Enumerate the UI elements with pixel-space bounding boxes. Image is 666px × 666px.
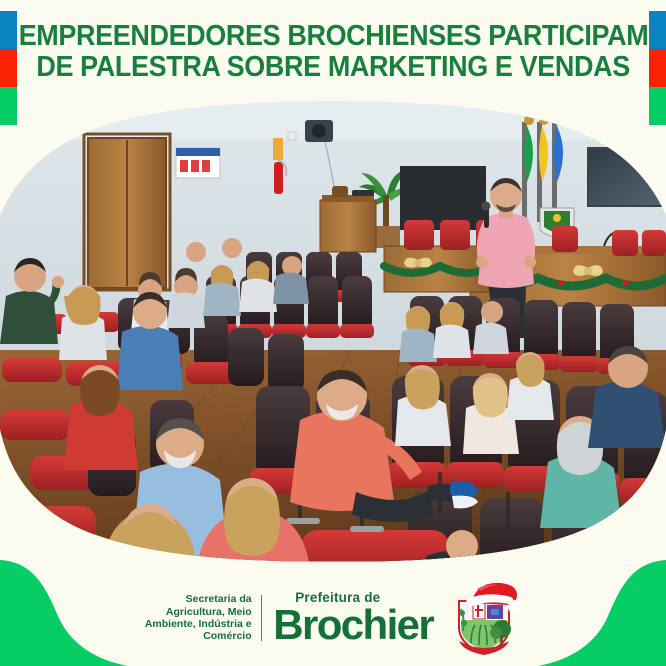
event-photo (0, 100, 666, 570)
accent-bar-red (649, 49, 666, 87)
brand-lockup: Secretaria da Agricultura, Meio Ambiente… (145, 579, 521, 657)
auditorium-scene (0, 100, 666, 570)
secretaria-line-4: Comércio (145, 630, 252, 642)
accent-bars-right (649, 11, 666, 125)
secretaria-block: Secretaria da Agricultura, Meio Ambiente… (145, 593, 261, 643)
secretaria-line-2: Agricultura, Meio (145, 606, 252, 618)
secretaria-line-1: Secretaria da (145, 593, 252, 605)
headline: EMPREENDEDORES BROCHIENSES PARTICIPAM DE… (0, 0, 666, 104)
secretaria-line-3: Ambiente, Indústria e (145, 618, 252, 630)
accent-bar-blue (0, 11, 17, 49)
accent-bar-green (649, 87, 666, 125)
headline-line-1: EMPREENDEDORES BROCHIENSES PARTICIPAM (18, 21, 648, 52)
accent-bar-blue (649, 11, 666, 49)
accent-bars-left (0, 11, 17, 125)
headline-line-2: DE PALESTRA SOBRE MARKETING E VENDAS (36, 52, 629, 83)
accent-bar-green (0, 87, 17, 125)
brasao-with-santa-hat (447, 579, 521, 657)
prefeitura-brand: Prefeitura de Brochier (273, 591, 433, 644)
accent-bar-red (0, 49, 17, 87)
coat-of-arms-icon (447, 579, 521, 657)
footer-logo-lockup: Secretaria da Agricultura, Meio Ambiente… (0, 570, 666, 666)
brand-city: Brochier (273, 606, 433, 645)
social-post-card: EMPREENDEDORES BROCHIENSES PARTICIPAM DE… (0, 0, 666, 666)
event-photo-image (0, 100, 666, 570)
lockup-divider (261, 595, 263, 641)
